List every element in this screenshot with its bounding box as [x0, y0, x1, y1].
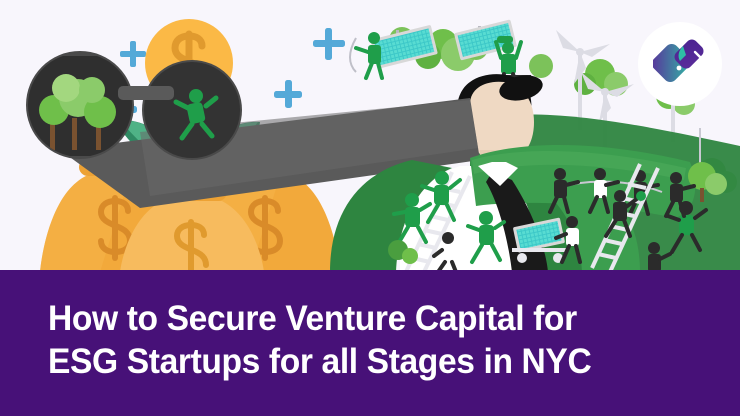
esg-venture-capital-banner: How to Secure Venture Capital for ESG St… [0, 0, 740, 416]
title-banner: How to Secure Venture Capital for ESG St… [0, 270, 740, 416]
handshake-diamond-icon [653, 38, 707, 90]
title-line-2: ESG Startups for all Stages in NYC [48, 340, 682, 383]
title-line-1: How to Secure Venture Capital for [48, 297, 682, 340]
brand-logo[interactable] [638, 22, 722, 106]
page-title: How to Secure Venture Capital for ESG St… [48, 297, 708, 383]
hero-illustration [0, 0, 740, 272]
